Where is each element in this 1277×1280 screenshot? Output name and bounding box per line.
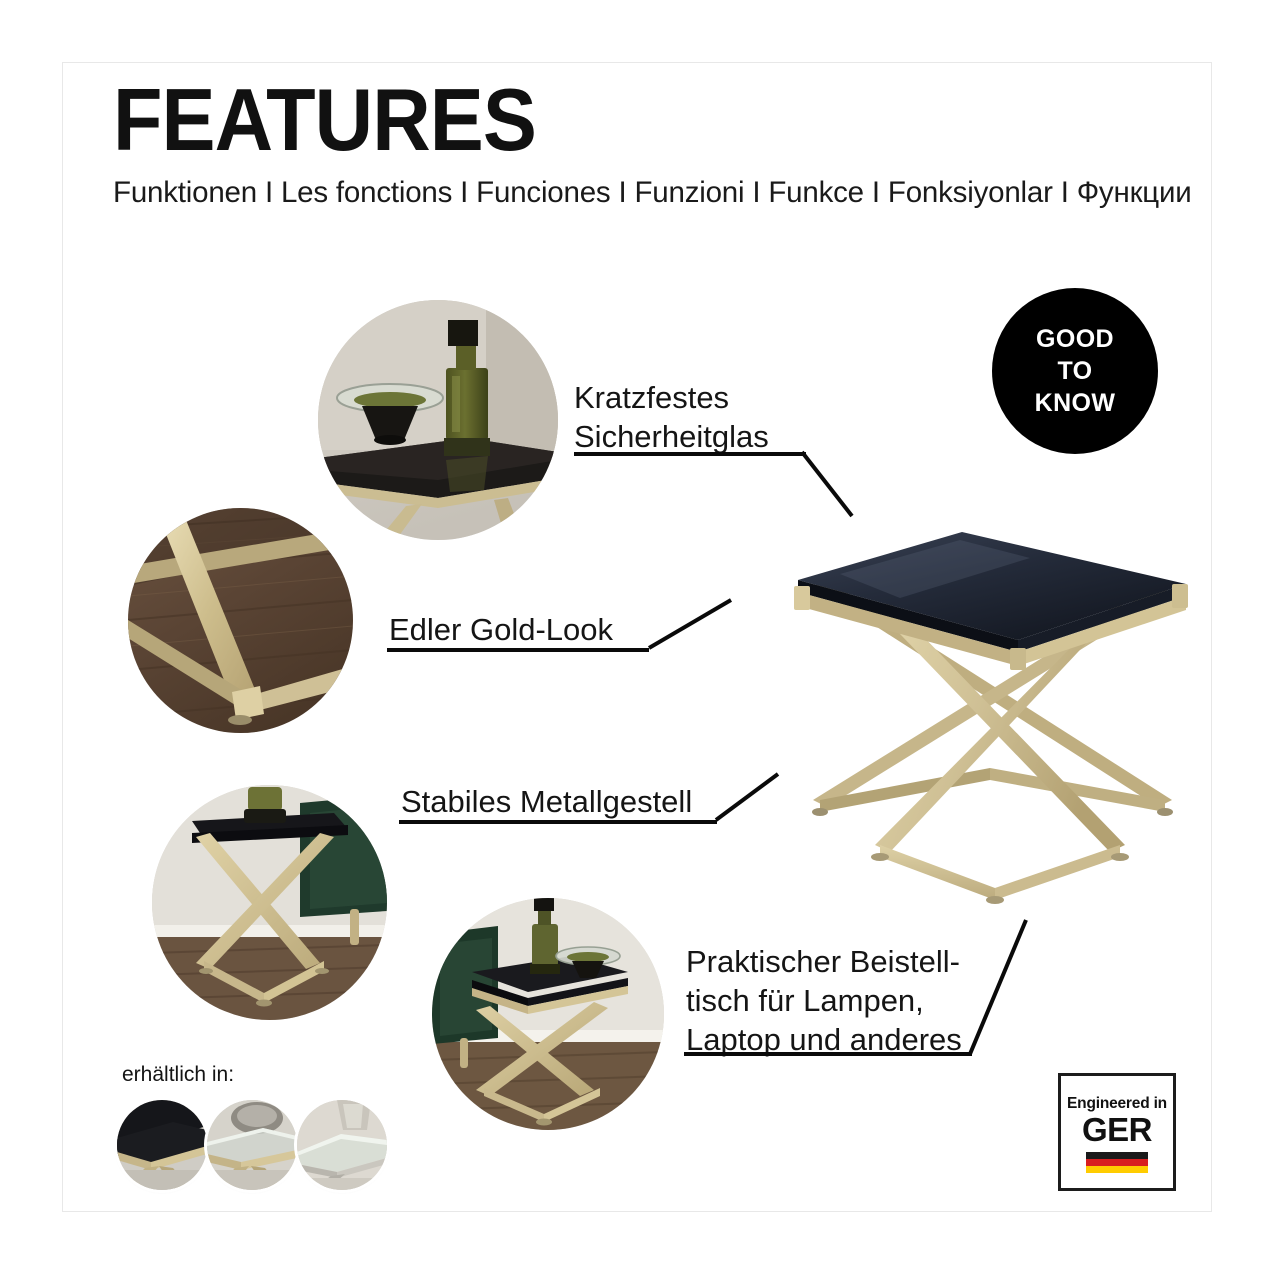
hero-product-image xyxy=(780,500,1200,920)
feature-rule-metal-frame xyxy=(399,820,717,824)
feature-leader-gold-look xyxy=(645,596,737,654)
engineered-in-germany-badge: Engineered in GER xyxy=(1058,1073,1176,1191)
german-flag-icon xyxy=(1086,1152,1148,1173)
feature-rule-side-table-use xyxy=(684,1052,972,1056)
feature-leader-metal-frame xyxy=(712,770,784,826)
badge-line-1: GOOD xyxy=(1036,327,1114,352)
good-to-know-badge: GOOD TO KNOW xyxy=(992,288,1158,454)
swatch-clear-glass-gold-frame[interactable] xyxy=(207,1100,297,1190)
feature-label-side-table-use: Praktischer Beistell- tisch für Lampen, … xyxy=(686,942,996,1059)
page-title: FEATURES xyxy=(113,78,1105,162)
infographic-page: FEATURES Funktionen I Les fonctions I Fu… xyxy=(0,0,1277,1280)
feature-label-gold-look: Edler Gold-Look xyxy=(389,610,669,649)
engineered-in-label: Engineered in xyxy=(1067,1095,1167,1113)
photo-scratch-resistant-glass xyxy=(318,300,558,540)
badge-line-3: KNOW xyxy=(1035,391,1116,416)
country-code-label: GER xyxy=(1082,1113,1152,1148)
photo-side-table-use xyxy=(432,898,664,1130)
feature-leader-side-table-use xyxy=(966,916,1036,1058)
photo-gold-look xyxy=(128,508,353,733)
badge-line-2: TO xyxy=(1057,359,1092,384)
swatch-black-glass-gold-frame[interactable] xyxy=(117,1100,207,1190)
availability-label: erhältlich in: xyxy=(122,1063,234,1087)
photo-metal-frame xyxy=(152,785,387,1020)
swatch-clear-glass-silver-frame[interactable] xyxy=(297,1100,387,1190)
page-subtitle: Funktionen I Les fonctions I Funciones I… xyxy=(113,176,1192,210)
feature-rule-scratch-resistant-glass xyxy=(574,452,806,456)
feature-label-scratch-resistant-glass: Kratzfestes Sicherheitglas xyxy=(574,378,894,456)
feature-rule-gold-look xyxy=(387,648,649,652)
header: FEATURES Funktionen I Les fonctions I Fu… xyxy=(113,78,1192,210)
feature-label-metal-frame: Stabiles Metallgestell xyxy=(401,782,731,821)
